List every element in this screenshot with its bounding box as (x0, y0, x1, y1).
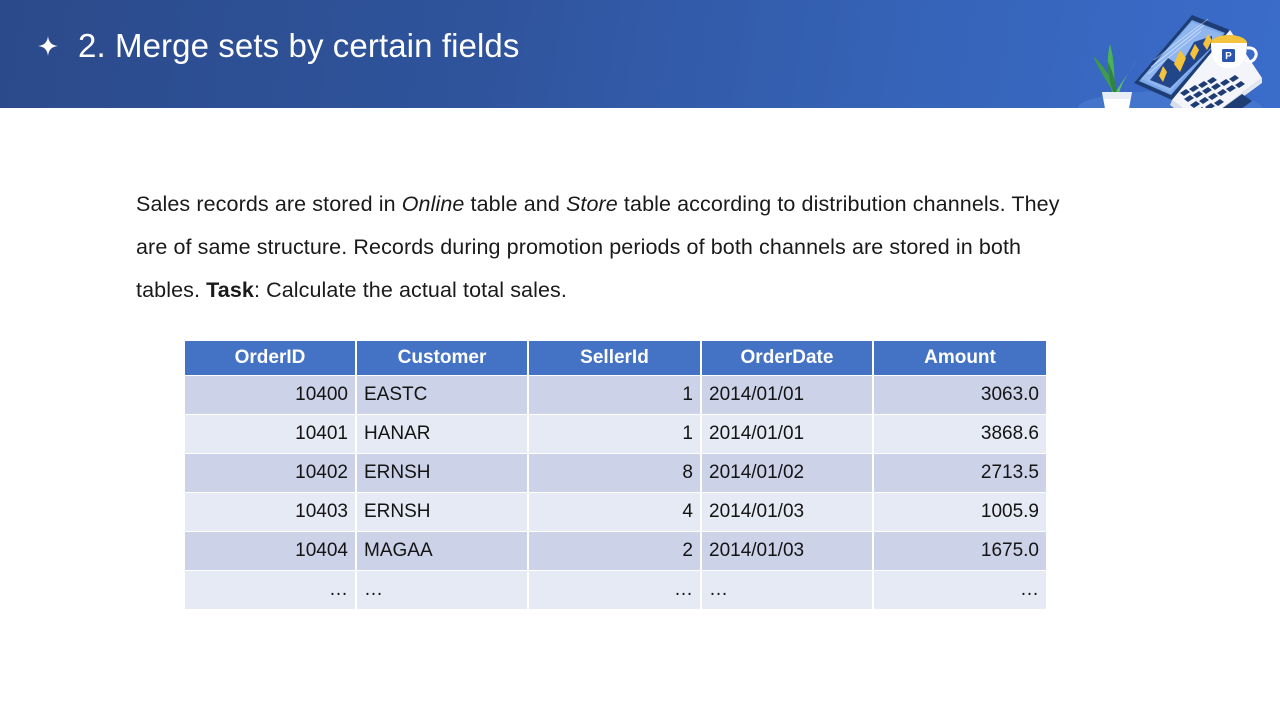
sparkle-star-icon (38, 36, 58, 56)
table-row: 10401 HANAR 1 2014/01/01 3868.6 (185, 415, 1046, 453)
table-body: 10400 EASTC 1 2014/01/01 3063.0 10401 HA… (185, 376, 1046, 609)
cell-orderid: 10401 (185, 415, 355, 453)
desc-part-4: : Calculate the actual total sales. (254, 278, 567, 302)
cell-sellerid: 4 (529, 493, 700, 531)
cell-orderdate: 2014/01/02 (702, 454, 872, 492)
cell-sellerid: 2 (529, 532, 700, 570)
table-row: 10403 ERNSH 4 2014/01/03 1005.9 (185, 493, 1046, 531)
desc-bold-task: Task (206, 278, 254, 302)
cell-amount: … (874, 571, 1046, 609)
title-row: 2. Merge sets by certain fields (38, 28, 519, 64)
cell-orderid: 10404 (185, 532, 355, 570)
cell-orderid: 10400 (185, 376, 355, 414)
cell-amount: 1005.9 (874, 493, 1046, 531)
slide-header-bar: 2. Merge sets by certain fields (0, 0, 1280, 108)
cell-customer: EASTC (357, 376, 527, 414)
cell-orderdate: … (702, 571, 872, 609)
table-header-row: OrderID Customer SellerId OrderDate Amou… (185, 341, 1046, 375)
desc-italic-store: Store (566, 192, 618, 216)
cell-orderid: 10402 (185, 454, 355, 492)
desc-italic-online: Online (402, 192, 465, 216)
cell-customer: ERNSH (357, 454, 527, 492)
cell-customer: ERNSH (357, 493, 527, 531)
table-row: 10402 ERNSH 8 2014/01/02 2713.5 (185, 454, 1046, 492)
column-header-sellerid: SellerId (529, 341, 700, 375)
table-row: 10404 MAGAA 2 2014/01/03 1675.0 (185, 532, 1046, 570)
cell-amount: 3063.0 (874, 376, 1046, 414)
page-title: 2. Merge sets by certain fields (78, 28, 519, 64)
column-header-amount: Amount (874, 341, 1046, 375)
laptop-base (1170, 30, 1262, 108)
cell-customer: … (357, 571, 527, 609)
cell-customer: HANAR (357, 415, 527, 453)
cell-orderdate: 2014/01/03 (702, 493, 872, 531)
desk-shadow (1078, 91, 1262, 108)
column-header-orderid: OrderID (185, 341, 355, 375)
cell-sellerid: 1 (529, 376, 700, 414)
cell-customer: MAGAA (357, 532, 527, 570)
table-row: 10400 EASTC 1 2014/01/01 3063.0 (185, 376, 1046, 414)
coffee-mug-icon: P (1211, 35, 1256, 68)
desc-part-2: table and (464, 192, 566, 216)
cell-amount: 3868.6 (874, 415, 1046, 453)
potted-plant-icon (1093, 44, 1137, 108)
svg-text:P: P (1225, 51, 1232, 62)
cell-orderid: 10403 (185, 493, 355, 531)
cell-sellerid: … (529, 571, 700, 609)
table-row-ellipsis: … … … … … (185, 571, 1046, 609)
cell-amount: 1675.0 (874, 532, 1046, 570)
isometric-laptop-illustration: P (1062, 0, 1272, 108)
column-header-orderdate: OrderDate (702, 341, 872, 375)
cell-orderdate: 2014/01/01 (702, 376, 872, 414)
description-paragraph: Sales records are stored in Online table… (136, 183, 1066, 312)
table-header: OrderID Customer SellerId OrderDate Amou… (185, 341, 1046, 375)
cell-orderdate: 2014/01/03 (702, 532, 872, 570)
cell-sellerid: 1 (529, 415, 700, 453)
cell-orderdate: 2014/01/01 (702, 415, 872, 453)
cell-sellerid: 8 (529, 454, 700, 492)
column-header-customer: Customer (357, 341, 527, 375)
cell-amount: 2713.5 (874, 454, 1046, 492)
sales-records-table: OrderID Customer SellerId OrderDate Amou… (183, 340, 1048, 610)
desc-part-1: Sales records are stored in (136, 192, 402, 216)
cell-orderid: … (185, 571, 355, 609)
laptop-screen (1134, 15, 1230, 100)
